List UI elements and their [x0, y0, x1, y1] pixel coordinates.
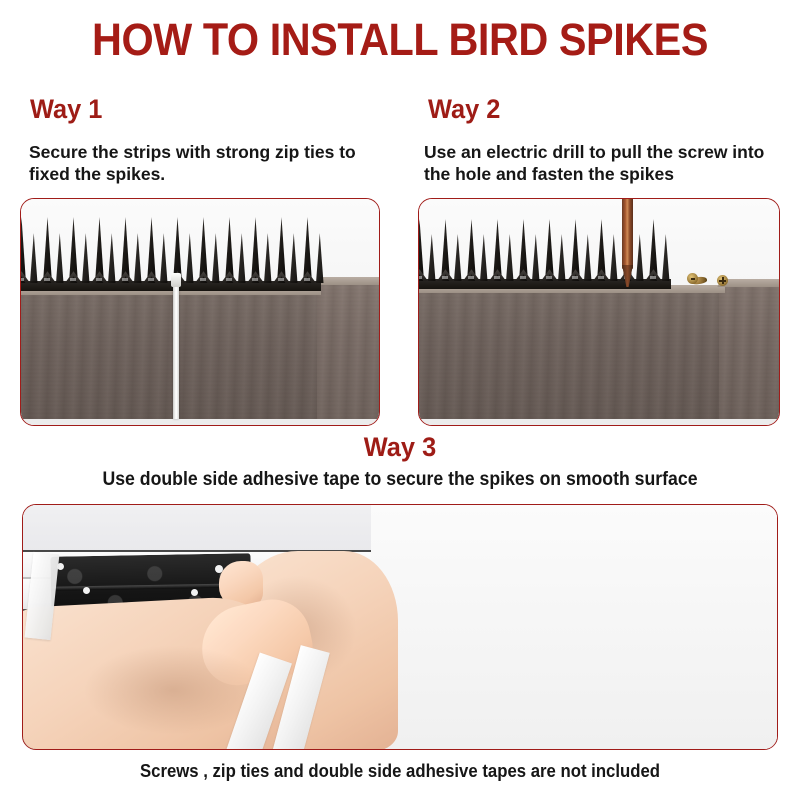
footer-note: Screws , zip ties and double side adhesi…	[28, 760, 772, 783]
spike-base-highlight	[200, 278, 206, 281]
spike	[238, 233, 246, 283]
spike-base-highlight	[96, 278, 102, 281]
spike	[264, 233, 272, 283]
infographic-page: HOW TO INSTALL BIRD SPIKES Way 1 Secure …	[0, 0, 800, 800]
way-1-caption: Secure the strips with strong zip ties t…	[29, 141, 379, 186]
way-3-heading: Way 3	[24, 432, 776, 463]
way-2-caption: Use an electric drill to pull the screw …	[424, 141, 782, 186]
strip-mount-hole-3	[191, 589, 198, 596]
spike	[610, 234, 618, 281]
spike-base-highlight	[44, 278, 50, 281]
zip-tie-head	[171, 273, 181, 287]
spike-base-highlight	[304, 278, 310, 281]
spike	[290, 233, 298, 283]
spike	[454, 234, 462, 281]
spike-base-highlight	[419, 276, 422, 279]
way-3-photo	[22, 504, 778, 750]
way-2-scene	[419, 199, 779, 425]
way-2-photo	[418, 198, 780, 426]
spike-base-highlight	[226, 278, 232, 281]
spike	[160, 233, 168, 283]
way-1-scene	[21, 199, 379, 425]
strip-mount-hole-2	[83, 587, 90, 594]
way-3-scene	[23, 505, 777, 749]
wood-beam	[419, 291, 737, 419]
spike	[134, 233, 142, 283]
way-1-photo	[20, 198, 380, 426]
spike	[662, 234, 670, 281]
spike	[558, 234, 566, 281]
way-1-heading: Way 1	[30, 94, 102, 125]
spike-base-highlight	[148, 278, 154, 281]
spike-base-highlight	[252, 278, 258, 281]
spike-base-highlight	[546, 276, 552, 279]
spike-base-highlight	[122, 278, 128, 281]
page-title: HOW TO INSTALL BIRD SPIKES	[32, 14, 768, 66]
spike	[56, 233, 64, 283]
spike	[186, 233, 194, 283]
wood-beam-right-return	[719, 283, 779, 419]
spike-base-highlight	[650, 276, 656, 279]
zip-tie	[173, 283, 179, 419]
spike-base-highlight	[572, 276, 578, 279]
wood-beam-right-return	[317, 281, 379, 419]
way-2-heading: Way 2	[428, 94, 500, 125]
spike	[480, 234, 488, 281]
spike	[82, 233, 90, 283]
screw-1-slot	[691, 278, 695, 280]
spike-base-highlight	[598, 276, 604, 279]
spike-base-highlight	[494, 276, 500, 279]
spike	[428, 234, 436, 281]
spike-base-highlight	[442, 276, 448, 279]
spike-base-highlight	[70, 278, 76, 281]
spike	[30, 233, 38, 283]
spike	[506, 234, 514, 281]
spike	[636, 234, 644, 281]
spike	[584, 234, 592, 281]
spike	[316, 233, 324, 283]
beam-top-edge	[315, 277, 379, 285]
spike	[532, 234, 540, 281]
screw-2-slot-h	[719, 280, 726, 282]
spike-row	[419, 219, 673, 281]
way-3-caption: Use double side adhesive tape to secure …	[28, 468, 772, 492]
spike-base-highlight	[468, 276, 474, 279]
spike	[212, 233, 220, 283]
spike-base-highlight	[520, 276, 526, 279]
spike-base-highlight	[21, 278, 24, 281]
white-backdrop-right	[371, 505, 777, 749]
drill-bit-shaft	[622, 199, 633, 269]
spike	[108, 233, 116, 283]
spike-base-highlight	[278, 278, 284, 281]
